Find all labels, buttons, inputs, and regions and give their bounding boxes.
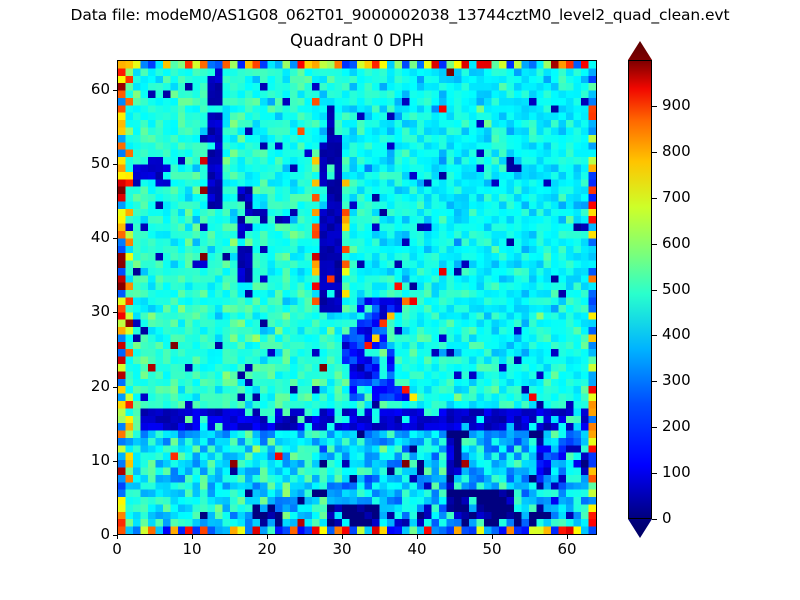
colorbar-tick-label: 600 — [662, 234, 691, 252]
colorbar-tick-mark — [652, 381, 657, 382]
y-tick-mark — [113, 387, 117, 388]
colorbar-tick-label: 900 — [662, 96, 691, 114]
y-tick-label: 40 — [50, 228, 110, 246]
x-tick-mark — [417, 535, 418, 539]
y-tick-mark — [113, 535, 117, 536]
x-tick-label: 60 — [537, 540, 597, 558]
x-tick-label: 50 — [462, 540, 522, 558]
colorbar-tick-label: 0 — [662, 509, 672, 527]
colorbar-tick-mark — [652, 427, 657, 428]
colorbar-tick-label: 400 — [662, 325, 691, 343]
x-tick-label: 30 — [312, 540, 372, 558]
x-tick-mark — [192, 535, 193, 539]
colorbar-tick-label: 300 — [662, 371, 691, 389]
x-tick-label: 10 — [162, 540, 222, 558]
x-tick-mark — [342, 535, 343, 539]
colorbar-gradient — [628, 60, 652, 519]
y-tick-mark — [113, 461, 117, 462]
colorbar-under-arrow-icon — [628, 519, 652, 538]
colorbar-tick-label: 200 — [662, 417, 691, 435]
heatmap-axes — [117, 60, 597, 535]
x-tick-mark — [567, 535, 568, 539]
colorbar-tick-label: 500 — [662, 280, 691, 298]
colorbar: 9008007006005004003002001000 — [628, 60, 652, 519]
colorbar-tick-mark — [652, 290, 657, 291]
colorbar-tick-mark — [652, 106, 657, 107]
colorbar-tick-mark — [652, 198, 657, 199]
colorbar-tick-mark — [652, 335, 657, 336]
colorbar-tick-mark — [652, 152, 657, 153]
y-tick-label: 30 — [50, 302, 110, 320]
colorbar-over-arrow-icon — [628, 41, 652, 60]
x-tick-mark — [267, 535, 268, 539]
colorbar-tick-mark — [652, 473, 657, 474]
colorbar-tick-label: 800 — [662, 142, 691, 160]
colorbar-tick-label: 700 — [662, 188, 691, 206]
colorbar-tick-mark — [652, 244, 657, 245]
y-tick-label: 10 — [50, 451, 110, 469]
x-tick-label: 40 — [387, 540, 447, 558]
colorbar-tick-label: 100 — [662, 463, 691, 481]
y-tick-mark — [113, 164, 117, 165]
data-file-suptitle: Data file: modeM0/AS1G08_062T01_90000020… — [0, 6, 800, 24]
x-tick-mark — [117, 535, 118, 539]
y-tick-mark — [113, 238, 117, 239]
heatmap-image — [118, 61, 596, 534]
y-tick-mark — [113, 312, 117, 313]
y-tick-label: 50 — [50, 154, 110, 172]
axes-title: Quadrant 0 DPH — [117, 31, 597, 50]
y-tick-mark — [113, 90, 117, 91]
x-tick-label: 20 — [237, 540, 297, 558]
y-tick-label: 0 — [50, 525, 110, 543]
y-tick-label: 60 — [50, 80, 110, 98]
y-tick-label: 20 — [50, 377, 110, 395]
x-tick-mark — [492, 535, 493, 539]
colorbar-tick-mark — [652, 519, 657, 520]
figure-canvas: Data file: modeM0/AS1G08_062T01_90000020… — [0, 0, 800, 600]
